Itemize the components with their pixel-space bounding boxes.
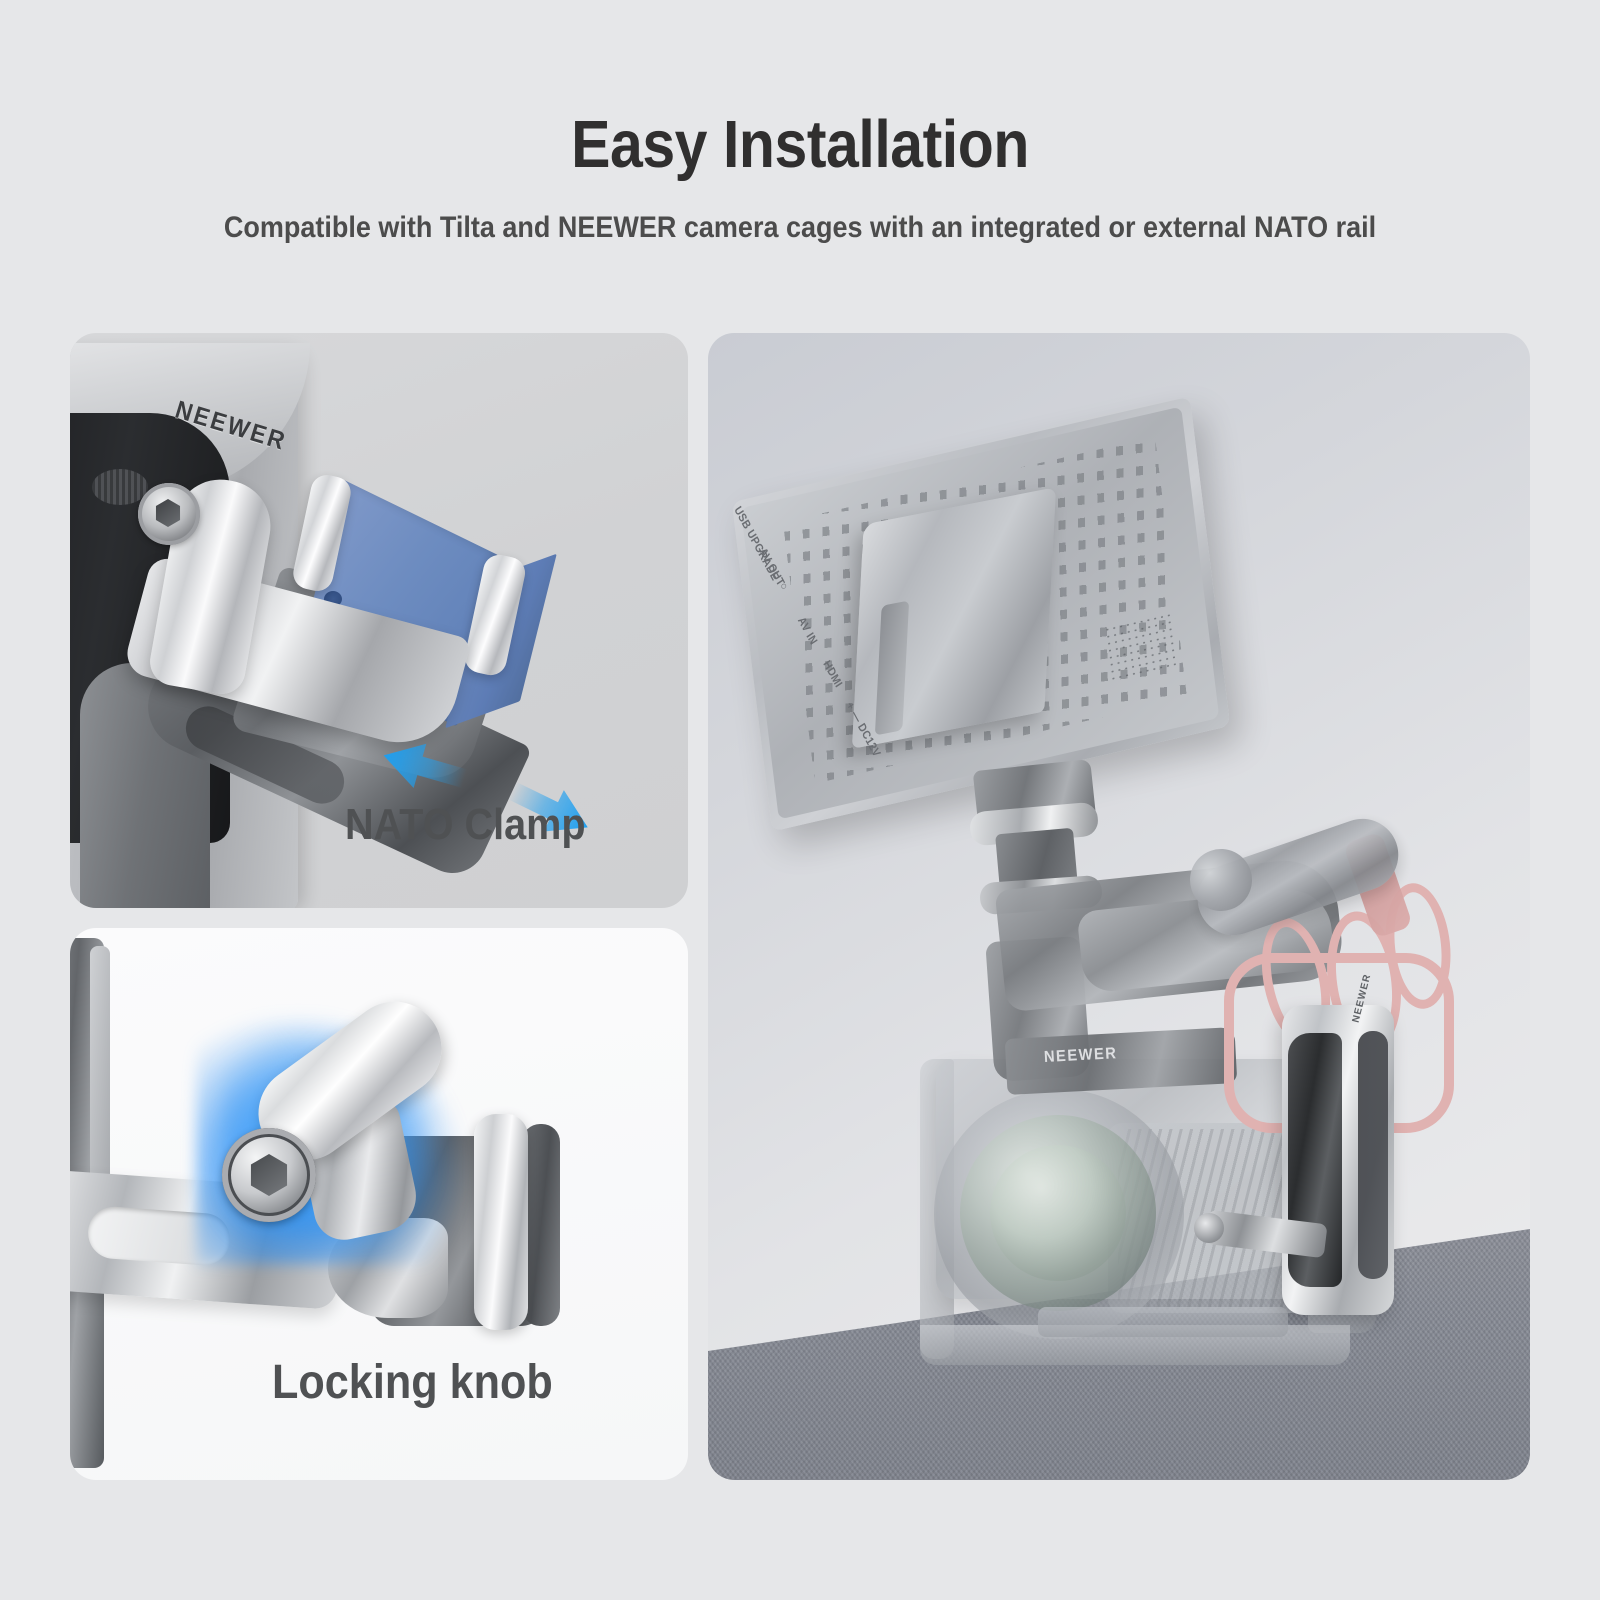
port-label-hdmi: HDMI — [820, 659, 844, 691]
label-nato-clamp: NATO Clamp — [345, 800, 586, 850]
infographic-page: Easy Installation Compatible with Tilta … — [0, 0, 1600, 1600]
camera-lens-element — [990, 1145, 1126, 1281]
label-locking-knob: Locking knob — [272, 1355, 553, 1410]
page-title: Easy Installation — [96, 0, 1504, 183]
side-handle-cutout — [1358, 1031, 1388, 1279]
port-label-av-in: AV IN — [795, 615, 819, 647]
nato-rail-connector-knob — [1194, 1213, 1224, 1243]
header: Easy Installation Compatible with Tilta … — [0, 0, 1600, 245]
camera-baseplate — [1038, 1307, 1288, 1337]
screw-hole-icon — [92, 469, 148, 505]
neewer-brand-text-handle: NEEWER — [1044, 1045, 1118, 1067]
panel-full-rig: USB UPGRADE AV OUT ○ AV IN HDMI + — DC12… — [708, 333, 1530, 1480]
page-subtitle: Compatible with Tilta and NEEWER camera … — [80, 183, 1520, 245]
nato-clamp-jaw-front — [474, 1114, 528, 1330]
